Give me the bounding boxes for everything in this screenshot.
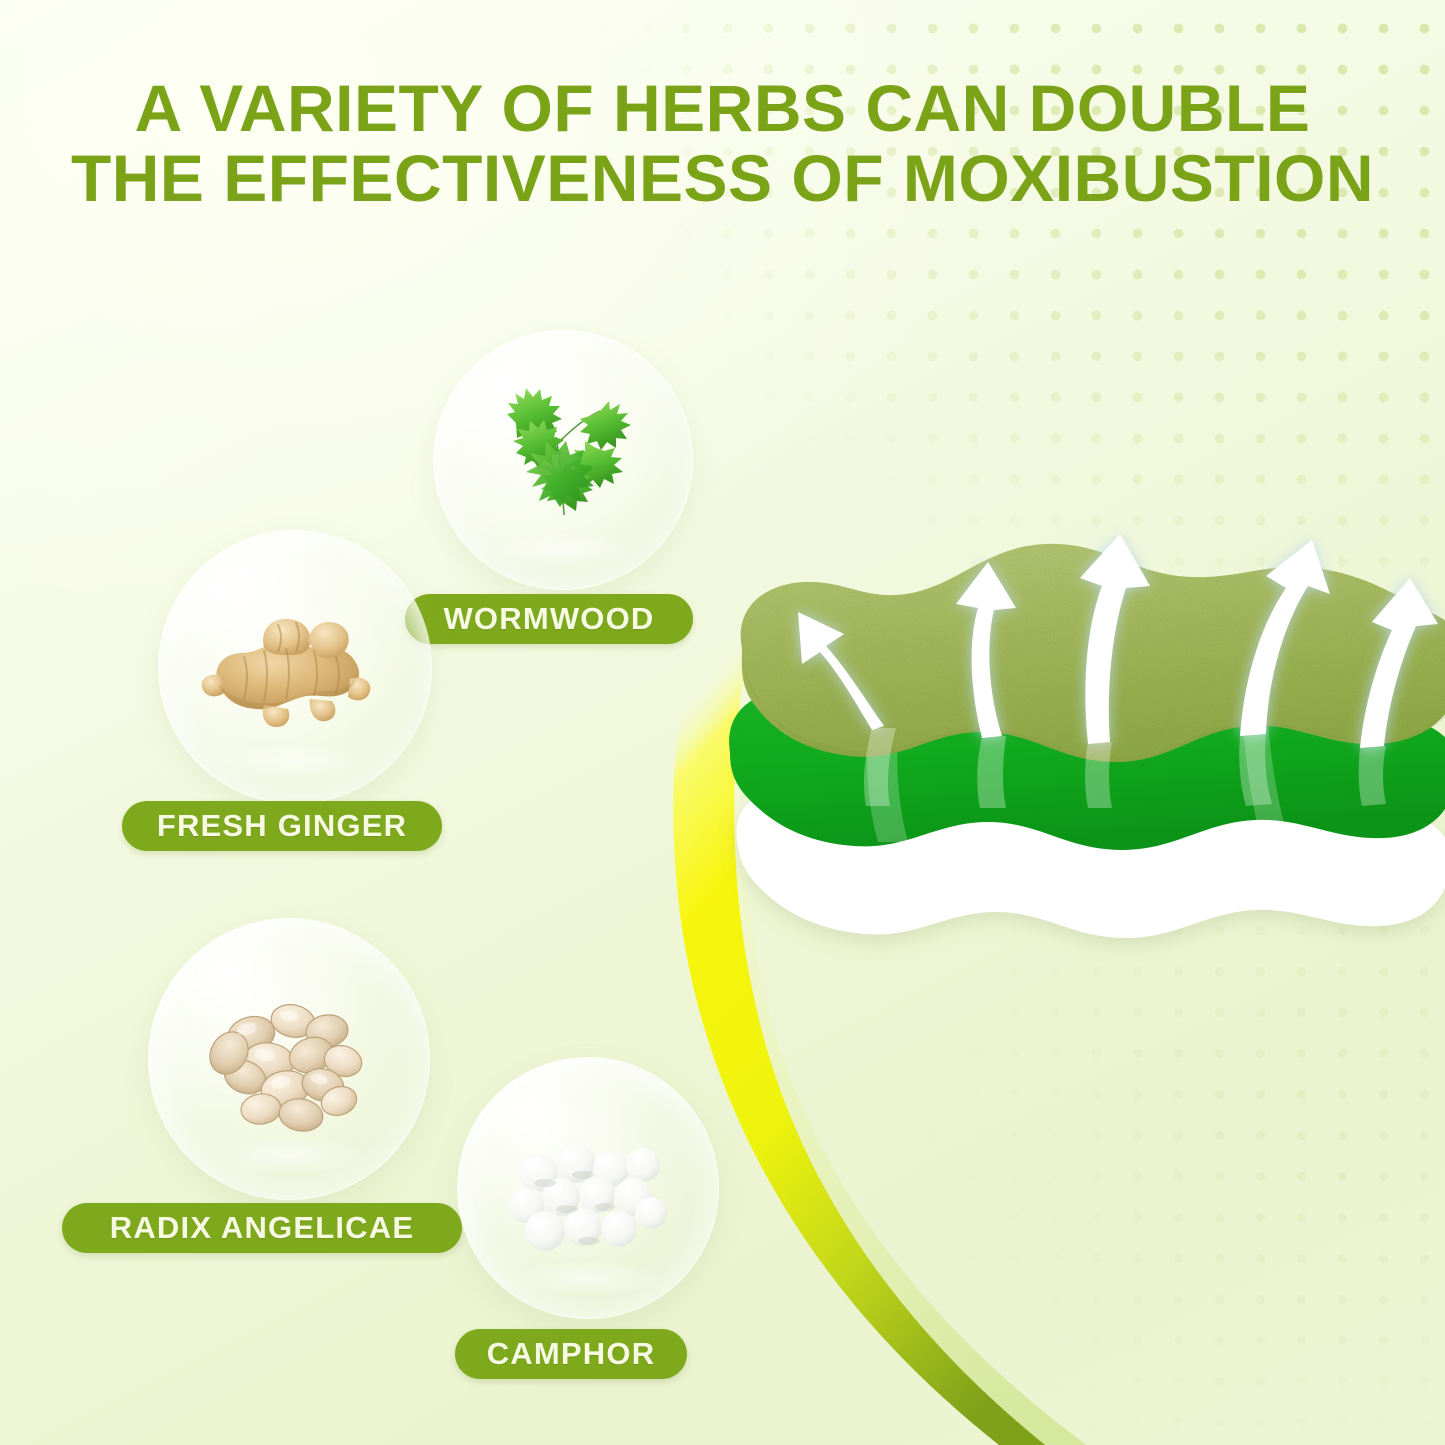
moxibustion-patch-layers	[720, 500, 1445, 1120]
wormwood-leaf-icon	[468, 365, 658, 555]
ingredient-label-radix-angelicae: RADIX ANGELICAE	[110, 1210, 414, 1246]
ingredient-bubble-fresh-ginger	[158, 530, 432, 804]
ingredient-pill-radix-angelicae: RADIX ANGELICAE	[62, 1203, 462, 1253]
ginger-root-icon	[190, 587, 400, 747]
ingredient-bubble-camphor	[457, 1057, 719, 1319]
ingredient-pill-fresh-ginger: FRESH GINGER	[122, 801, 442, 851]
ingredient-label-fresh-ginger: FRESH GINGER	[157, 808, 407, 844]
ingredient-pill-wormwood: WORMWOOD	[405, 594, 693, 644]
page-title: A VARIETY OF HERBS CAN DOUBLE THE EFFECT…	[0, 74, 1445, 214]
ingredient-label-wormwood: WORMWOOD	[443, 601, 654, 637]
angelica-root-slices-icon	[189, 969, 389, 1149]
poster-canvas: A VARIETY OF HERBS CAN DOUBLE THE EFFECT…	[0, 0, 1445, 1445]
ingredient-bubble-radix-angelicae	[148, 918, 430, 1200]
ingredient-pill-camphor: CAMPHOR	[455, 1329, 687, 1379]
ingredient-bubble-wormwood	[433, 330, 693, 590]
ingredient-label-camphor: CAMPHOR	[487, 1336, 656, 1372]
camphor-balls-icon	[493, 1113, 683, 1263]
